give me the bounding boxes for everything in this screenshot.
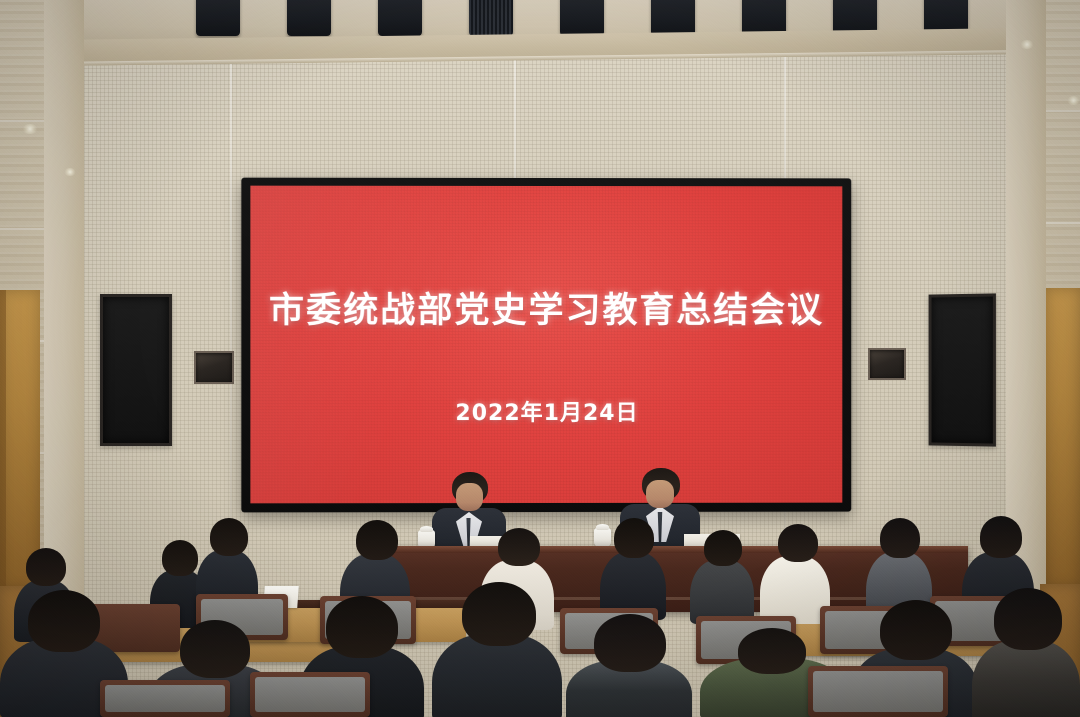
- screen-date: 2022年1月24日: [455, 395, 638, 427]
- wall-speaker-right: [929, 293, 996, 446]
- ceiling-panel: [651, 0, 695, 36]
- conference-room-photo: 市委统战部党史学习教育总结会议 2022年1月24日: [0, 0, 1080, 717]
- chair-foreground: [100, 680, 230, 717]
- door-left[interactable]: [0, 290, 40, 590]
- led-screen-frame: 市委统战部党史学习教育总结会议 2022年1月24日: [241, 178, 851, 513]
- recessed-wall-box-right: [868, 348, 906, 380]
- attendee-foreground: [566, 614, 692, 717]
- attendee: [600, 518, 666, 616]
- recessed-wall-box-left: [194, 351, 234, 384]
- attendee: [760, 524, 830, 620]
- ceiling-panel: [196, 0, 240, 36]
- door-right[interactable]: [1046, 288, 1080, 588]
- attendee: [690, 530, 754, 622]
- presider-right-face: [646, 480, 674, 508]
- wall-speaker-left: [100, 294, 172, 446]
- screen-title: 市委统战部党史学习教育总结会议: [269, 282, 824, 333]
- ceiling-panel: [560, 0, 604, 36]
- screen-glare: [250, 186, 842, 504]
- chair-foreground: [808, 666, 948, 717]
- led-screen: 市委统战部党史学习教育总结会议 2022年1月24日: [250, 186, 842, 504]
- attendee-foreground-fur: [972, 588, 1080, 717]
- attendee-foreground: [432, 582, 562, 717]
- ceiling-panel: [378, 0, 422, 36]
- chair-foreground: [250, 672, 370, 717]
- ceiling-panel: [287, 0, 331, 36]
- presider-left-face: [456, 483, 483, 511]
- ceiling-vent-panel: [469, 0, 513, 36]
